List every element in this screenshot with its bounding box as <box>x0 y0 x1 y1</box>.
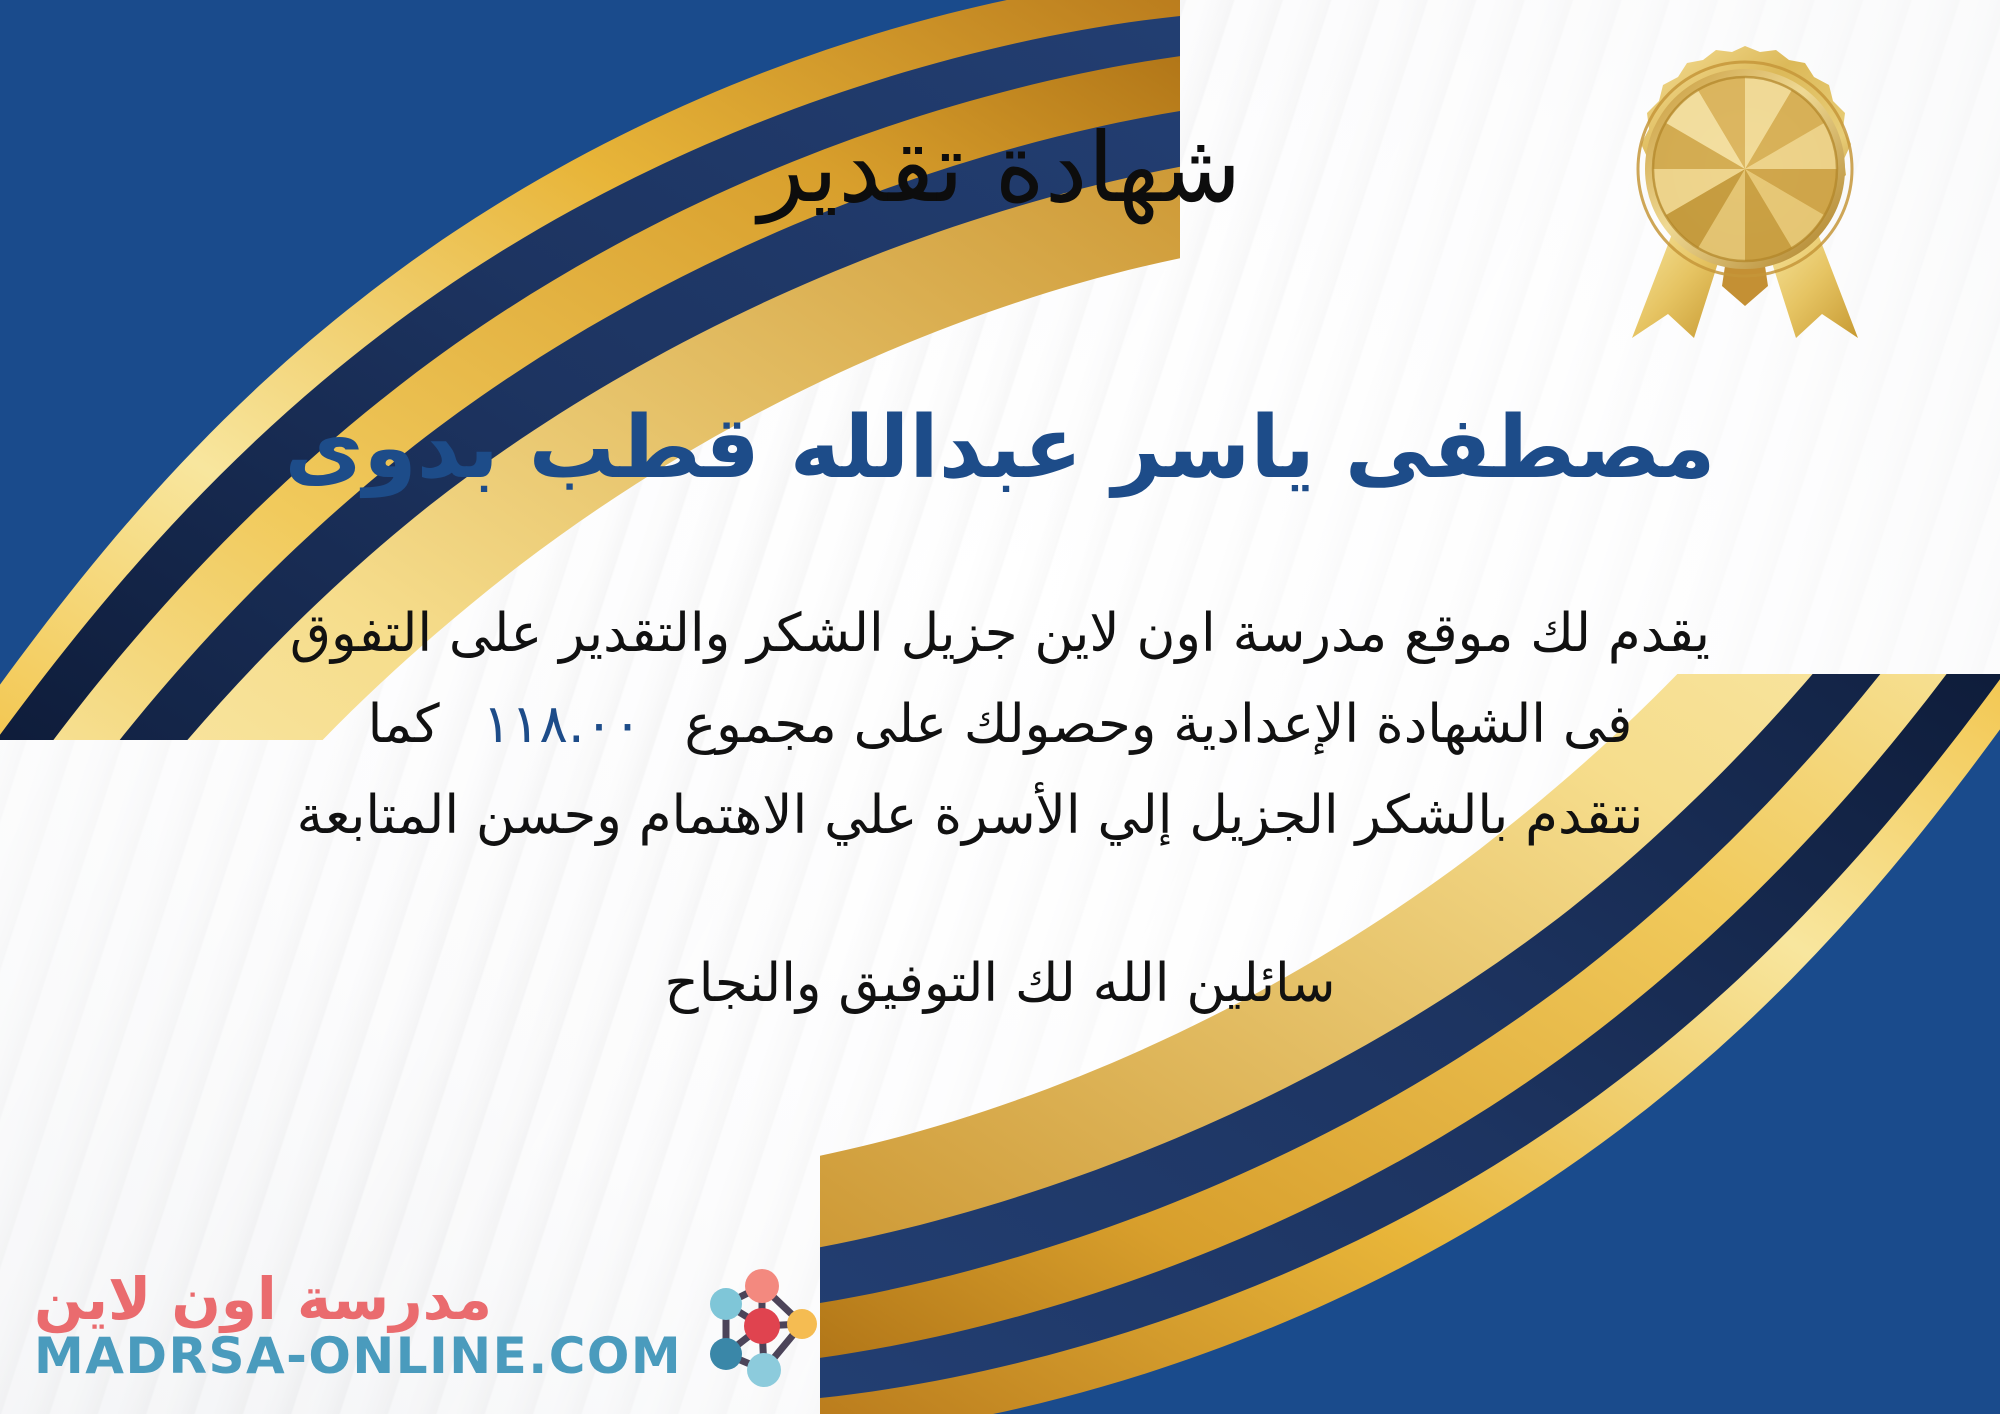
brand-domain-text: MADRSA-ONLINE.COM <box>34 1331 682 1381</box>
node-yellow <box>787 1309 817 1339</box>
body-line-3: نتقدم بالشكر الجزيل إلي الأسرة علي الاهت… <box>140 770 1860 861</box>
body-line-2: فى الشهادة الإعدادية وحصولك على مجموع ١١… <box>140 679 1860 770</box>
brand-logo[interactable]: مدرسة اون لاين MADRSA-ONLINE.COM <box>34 1258 826 1392</box>
brand-text-group: مدرسة اون لاين MADRSA-ONLINE.COM <box>34 1269 682 1382</box>
body-line-1: يقدم لك موقع مدرسة اون لاين جزيل الشكر و… <box>140 588 1860 679</box>
certificate-content: شهادة تقدير مصطفى ياسر عبدالله قطب بدوى … <box>0 0 2000 1414</box>
certificate-title: شهادة تقدير <box>759 118 1242 219</box>
node-dark-teal <box>710 1338 742 1370</box>
certificate-body: يقدم لك موقع مدرسة اون لاين جزيل الشكر و… <box>140 588 1860 861</box>
certificate-page: شهادة تقدير مصطفى ياسر عبدالله قطب بدوى … <box>0 0 2000 1414</box>
recipient-name: مصطفى ياسر عبدالله قطب بدوى <box>285 401 1716 496</box>
node-red <box>744 1308 780 1344</box>
body-line-2-prefix: فى الشهادة الإعدادية وحصولك على مجموع <box>685 694 1633 755</box>
closing-wish-line: سائلين الله لك التوفيق والنجاح <box>664 953 1335 1014</box>
node-light-blue-bottom <box>747 1353 781 1387</box>
network-nodes-icon <box>690 1258 826 1392</box>
total-score-value: ١١٨.٠٠ <box>457 694 668 755</box>
node-salmon <box>745 1269 779 1303</box>
brand-arabic-name: مدرسة اون لاين <box>34 1269 492 1330</box>
body-line-2-suffix: كما <box>368 694 440 755</box>
node-light-blue-top <box>710 1288 742 1320</box>
